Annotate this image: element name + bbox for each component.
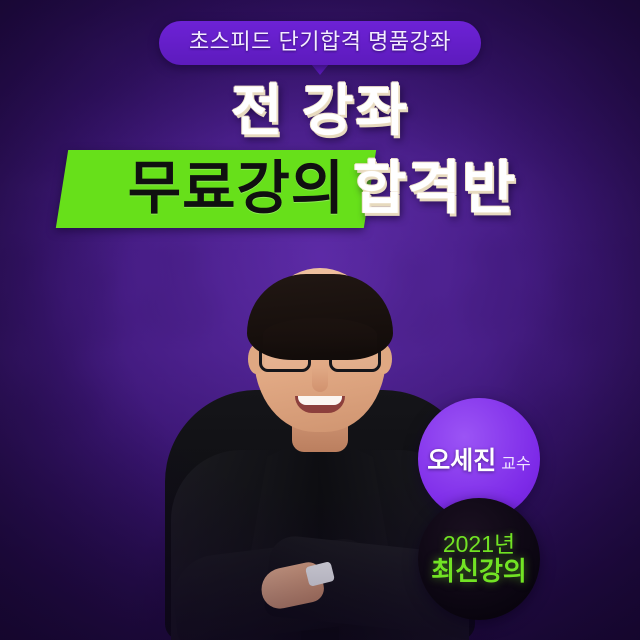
newest-lecture-year: 2021년 (443, 532, 515, 558)
headline-free-lecture: 무료강의 (124, 160, 345, 218)
headline-line-1: 전 강좌 (0, 83, 640, 139)
tagline-pill-wrapper: 초스피드 단기합격 명품강좌 (0, 21, 640, 75)
newest-lecture-label: 최신강의 (431, 557, 527, 586)
promo-banner: 2016 대한민국 Korea Super Award (0, 0, 640, 640)
newest-lecture-badge[interactable]: 2021년 최신강의 (418, 498, 540, 620)
professor-title: 교수 (501, 450, 530, 474)
pill-tail-icon (311, 64, 329, 75)
headline-pass-class: 합격반 (353, 160, 516, 218)
headline-line-2: 무료강의 합격반 (0, 146, 640, 232)
tagline-pill: 초스피드 단기합격 명품강좌 (159, 21, 481, 65)
professor-name: 오세진 (427, 441, 496, 477)
tagline-text: 초스피드 단기합격 명품강좌 (189, 28, 451, 56)
